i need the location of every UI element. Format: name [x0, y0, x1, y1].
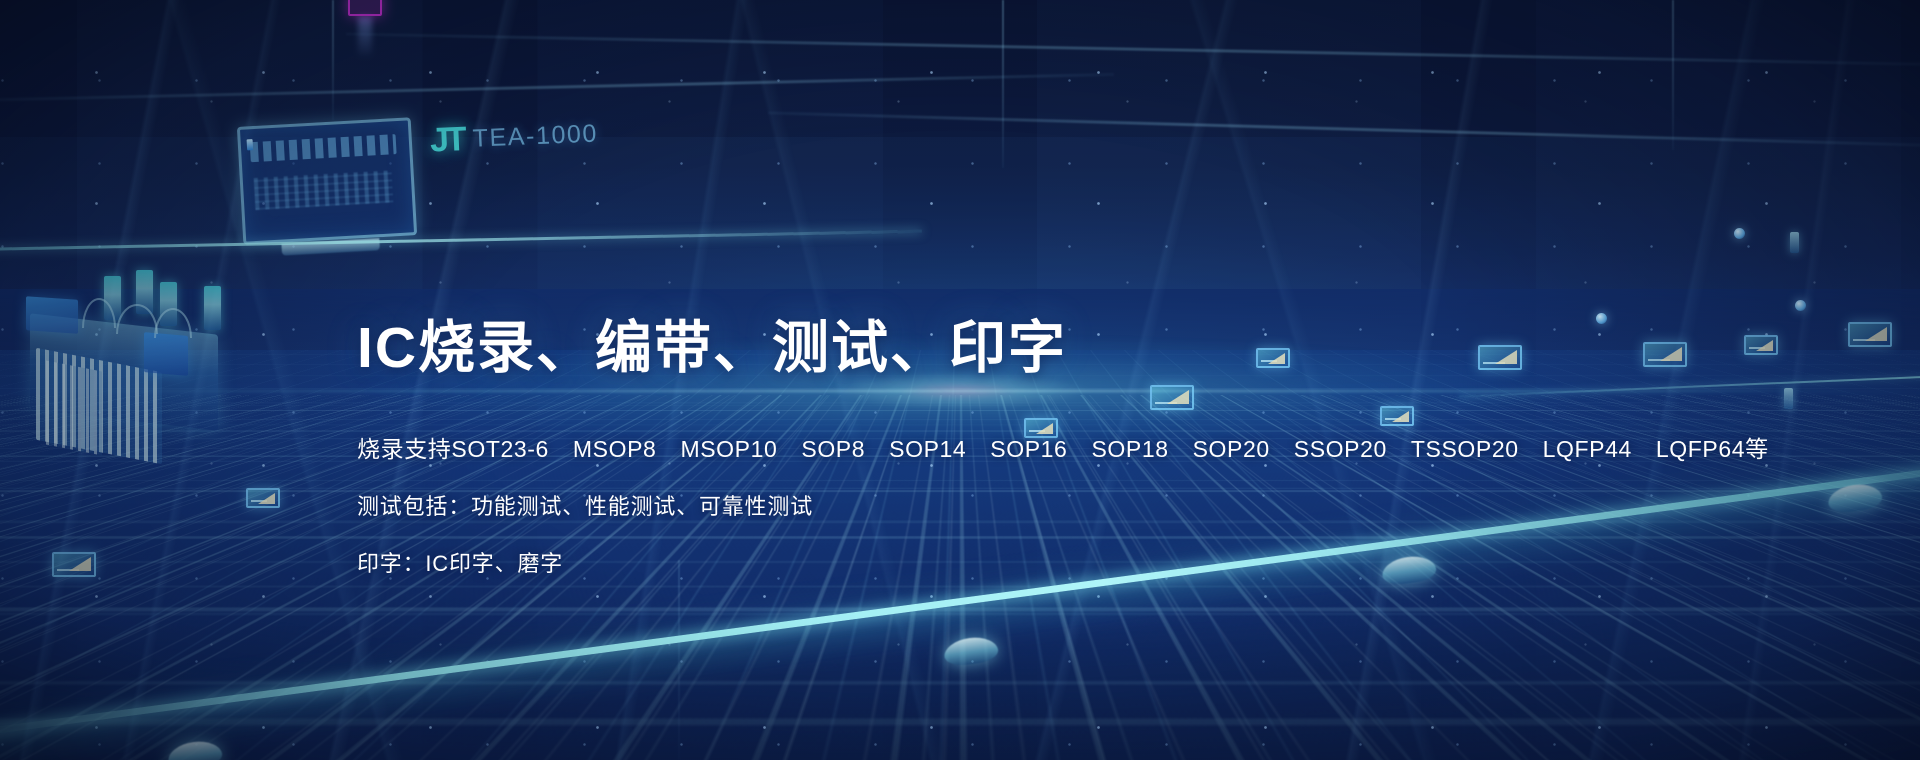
- burn-support-prefix: 烧录支持SOT23-6: [357, 436, 549, 462]
- support-post: [1002, 0, 1004, 168]
- chip-icon: [1848, 322, 1892, 347]
- component-pill: [1784, 388, 1793, 409]
- package-tag: MSOP10: [680, 436, 777, 462]
- package-tag: SSOP20: [1294, 436, 1387, 462]
- equipment-logo: JT TEA-1000: [429, 114, 599, 160]
- glow-orb: [1795, 300, 1806, 311]
- package-tag: SOP18: [1091, 436, 1168, 462]
- package-tag: SOP20: [1193, 436, 1270, 462]
- printing-scope-line: 印字：IC印字、磨字: [357, 546, 1769, 578]
- support-post: [1672, 0, 1674, 150]
- overhead-beam: [0, 73, 1113, 102]
- ic-service-banner: JT TEA-1000 IC烧录、编带、测试、印字: [0, 0, 1920, 760]
- glow-orb: [1734, 228, 1745, 239]
- support-post: [332, 0, 334, 120]
- chip-icon: [246, 488, 280, 508]
- test-scope-line: 测试包括：功能测试、性能测试、可靠性测试: [357, 489, 1769, 521]
- banner-headline: IC烧录、编带、测试、印字: [357, 318, 1769, 378]
- monitor-display: [237, 117, 417, 245]
- machine-fin-stack-secondary: [46, 361, 102, 456]
- machine-control-box: [26, 296, 78, 334]
- package-tag: SOP16: [990, 436, 1067, 462]
- package-tag: LQFP64等: [1656, 436, 1769, 462]
- industrial-machine: [8, 268, 240, 478]
- chip-icon: [52, 552, 96, 577]
- equipment-brand-mark: JT: [429, 120, 464, 160]
- overhead-beam: [768, 111, 1920, 147]
- package-tag: TSSOP20: [1411, 436, 1519, 462]
- machine-cylinder: [204, 286, 221, 330]
- package-tag: LQFP44: [1543, 436, 1632, 462]
- overhead-beam: [346, 33, 1920, 67]
- secondary-rail-upper: [0, 230, 922, 251]
- machine-motor-box: [144, 332, 188, 376]
- equipment-model-text: TEA-1000: [472, 119, 598, 153]
- banner-copy: IC烧录、编带、测试、印字 烧录支持SOT23-6MSOP8MSOP10SOP8…: [357, 318, 1769, 578]
- component-pill: [1790, 232, 1799, 253]
- package-support-line: 烧录支持SOT23-6MSOP8MSOP10SOP8SOP14SOP16SOP1…: [357, 430, 1769, 464]
- package-tag: MSOP8: [573, 436, 657, 462]
- package-tag: SOP14: [889, 436, 966, 462]
- monitor-led: [247, 139, 254, 150]
- package-tag: SOP8: [801, 436, 865, 462]
- marker-beam: [358, 16, 372, 58]
- magenta-marker-tag: [348, 0, 382, 16]
